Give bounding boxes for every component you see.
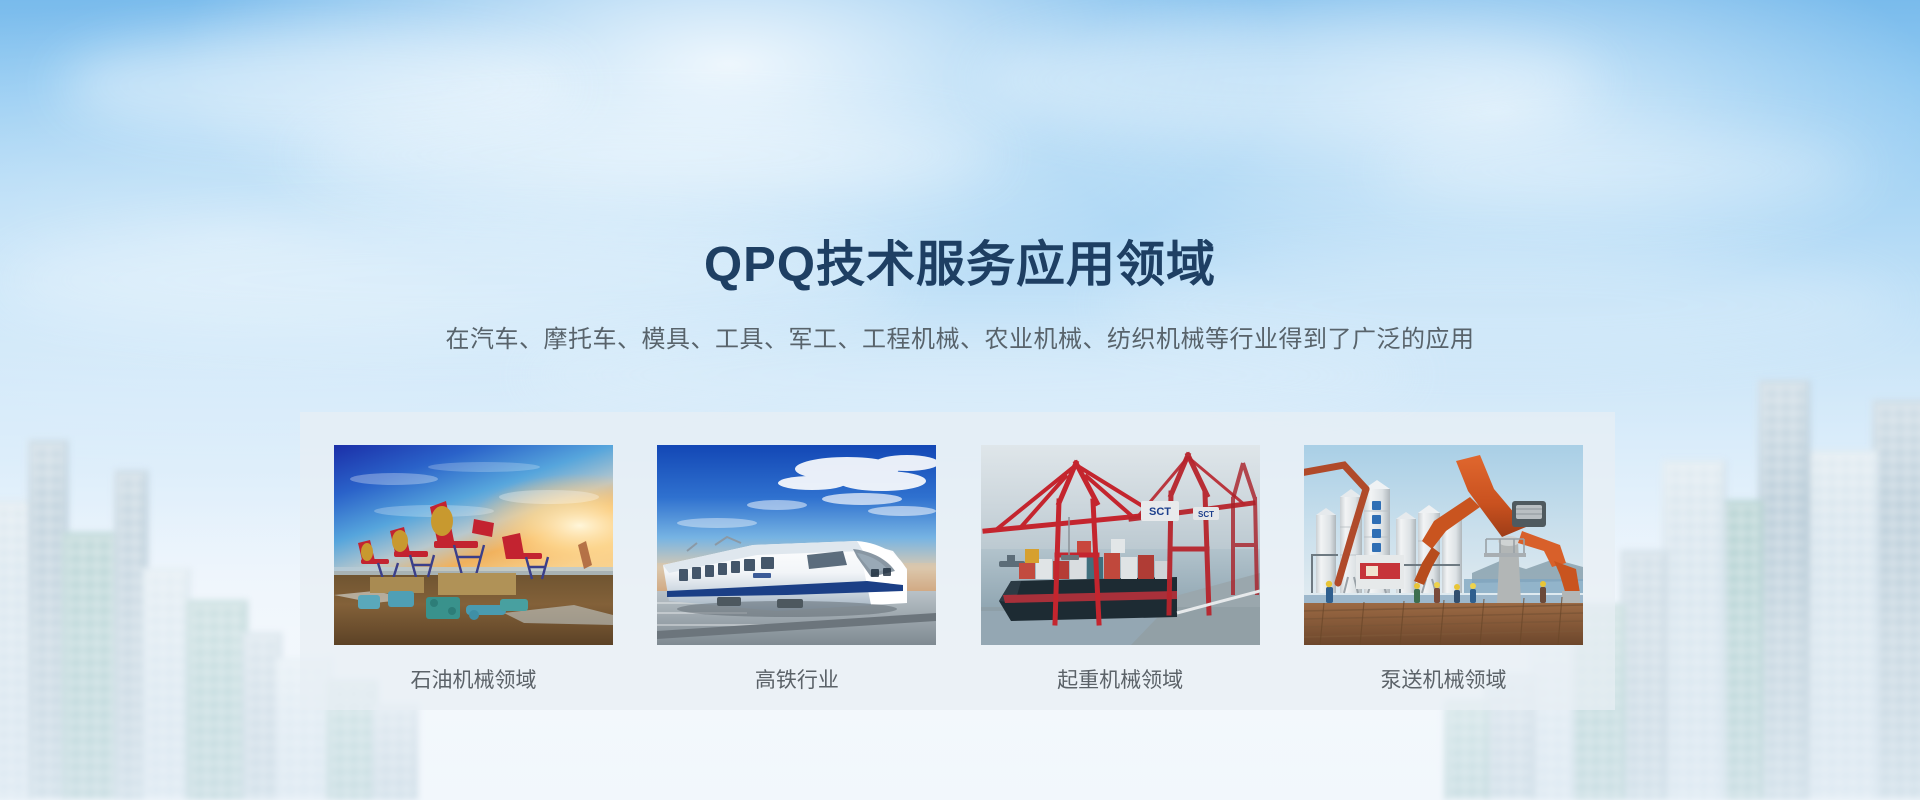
- port-gantry-crane-photo: SCT SCT: [981, 445, 1260, 645]
- application-card-pump[interactable]: 泵送机械领域: [1304, 445, 1583, 695]
- page-title: QPQ技术服务应用领域: [0, 236, 1920, 294]
- application-fields-panel: 石油机械领域: [300, 412, 1615, 710]
- svg-text:SCT: SCT: [1149, 506, 1171, 518]
- application-card-caption: 泵送机械领域: [1380, 667, 1506, 695]
- application-card-caption: 高铁行业: [755, 667, 839, 695]
- application-card-railway[interactable]: 高铁行业: [657, 445, 936, 695]
- oil-pumpjack-photo: [334, 445, 613, 645]
- hero-banner: QPQ技术服务应用领域 在汽车、摩托车、模具、工具、军工、工程机械、农业机械、纺…: [0, 0, 1920, 800]
- concrete-pump-silo-photo: [1304, 445, 1583, 645]
- page-subtitle: 在汽车、摩托车、模具、工具、军工、工程机械、农业机械、纺织机械等行业得到了广泛的…: [0, 323, 1920, 357]
- application-card-crane[interactable]: SCT SCT 起重机械领域: [981, 445, 1260, 695]
- application-card-caption: 起重机械领域: [1057, 667, 1183, 695]
- application-card-caption: 石油机械领域: [411, 667, 537, 695]
- high-speed-train-photo: [657, 445, 936, 645]
- svg-text:SCT: SCT: [1198, 510, 1214, 519]
- application-card-oil[interactable]: 石油机械领域: [334, 445, 613, 695]
